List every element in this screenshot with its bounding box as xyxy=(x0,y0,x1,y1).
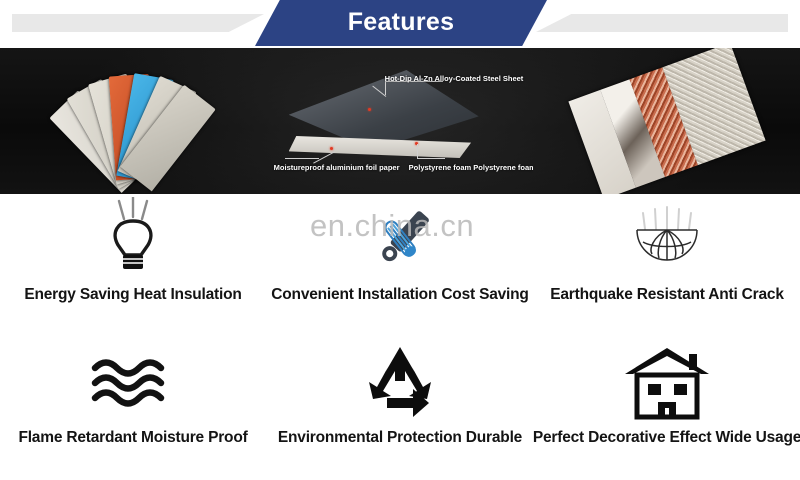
house-icon xyxy=(534,337,800,429)
feature-item-decorative-effect: Perfect Decorative Effect Wide Usage xyxy=(534,337,800,480)
light-bulb-icon xyxy=(0,194,266,286)
stone-panel-stack xyxy=(568,48,765,194)
callout-dot-steel xyxy=(368,108,371,111)
feature-label: Convenient Installation Cost Saving xyxy=(271,286,528,304)
feature-item-convenient-installation: Convenient Installation Cost Saving xyxy=(267,194,533,337)
wrench-tool-icon xyxy=(267,194,533,286)
features-page: Features Hot-Dip Al-Z xyxy=(0,0,800,480)
header-right-bar xyxy=(536,14,788,32)
page-title: Features xyxy=(348,10,455,37)
callout-line-foil-2 xyxy=(285,158,319,159)
label-polystyrene-foam: Polystyrene foam Polystyrene foam xyxy=(409,163,534,172)
product-photo-strip: Hot-Dip Al-Zn Alloy-Coated Steel Sheet M… xyxy=(0,48,800,194)
stone-pattern-panels-photo xyxy=(533,48,800,194)
panel-sample-fan xyxy=(38,65,228,183)
feature-label: Energy Saving Heat Insulation xyxy=(24,286,241,304)
panel-structure-diagram-photo: Hot-Dip Al-Zn Alloy-Coated Steel Sheet M… xyxy=(267,48,534,194)
feature-label: Perfect Decorative Effect Wide Usage xyxy=(533,429,800,447)
header-banner: Features xyxy=(255,0,547,46)
recycle-icon xyxy=(267,337,533,429)
feature-item-earthquake-resistant: Earthquake Resistant Anti Crack xyxy=(534,194,800,337)
water-waves-icon xyxy=(0,337,266,429)
feature-item-flame-retardant: Flame Retardant Moisture Proof xyxy=(0,337,266,480)
feature-item-energy-saving: Energy Saving Heat Insulation xyxy=(0,194,266,337)
feature-label: Flame Retardant Moisture Proof xyxy=(18,429,247,447)
label-steel-sheet: Hot-Dip Al-Zn Alloy-Coated Steel Sheet xyxy=(385,74,524,83)
header-left-bar xyxy=(12,14,264,32)
callout-line-foam xyxy=(417,144,418,158)
panel-color-samples-photo xyxy=(0,48,267,194)
globe-dome-icon xyxy=(534,194,800,286)
callout-dot-foil xyxy=(330,147,333,150)
feature-item-environmental-protection: Environmental Protection Durable xyxy=(267,337,533,480)
callout-line-foam-2 xyxy=(417,158,445,159)
feature-label: Environmental Protection Durable xyxy=(278,429,522,447)
label-foil-paper: Moistureproof aluminium foil paper xyxy=(274,163,400,172)
feature-label: Earthquake Resistant Anti Crack xyxy=(550,286,784,304)
page-header: Features xyxy=(0,0,800,48)
foam-core-edge xyxy=(289,136,479,158)
feature-grid: Energy Saving Heat Insulation xyxy=(0,194,800,480)
panel-cutaway: Hot-Dip Al-Zn Alloy-Coated Steel Sheet M… xyxy=(267,48,534,194)
callout-line-top-drop xyxy=(385,81,386,95)
